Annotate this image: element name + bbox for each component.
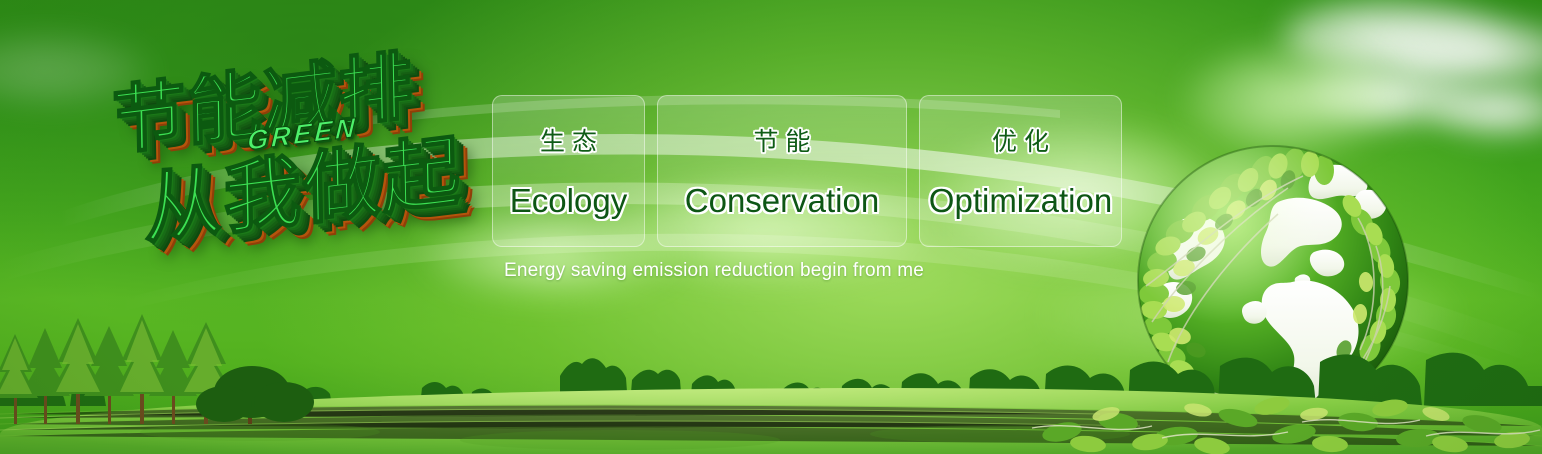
- banner-tagline: Energy saving emission reduction begin f…: [504, 260, 924, 282]
- cloud-icon: [1390, 14, 1542, 84]
- logo-line-1: 节能减排: [111, 25, 415, 170]
- cloud-icon: [1300, 60, 1490, 126]
- feature-card-title-cn: 优化: [992, 122, 1056, 158]
- feature-card-title-cn: 节能: [753, 122, 817, 158]
- feature-card-title-cn: 生态: [540, 122, 604, 158]
- feature-card-title-en: Conservation: [685, 182, 879, 220]
- eco-banner: 节能减排 从我做起 GREEN 生态 Ecology 节能 Conservati…: [0, 0, 1542, 454]
- banner-logo: 节能减排 从我做起 GREEN: [95, 36, 495, 266]
- cloud-icon: [1430, 78, 1542, 136]
- feature-card-title-en: Optimization: [929, 182, 1112, 220]
- cloud-icon: [0, 28, 160, 106]
- logo-line-2: 从我做起: [143, 108, 463, 260]
- grass-field: [0, 388, 1542, 454]
- feature-card-conservation[interactable]: 节能 Conservation: [657, 95, 907, 247]
- logo-overlay-green: GREEN: [247, 112, 359, 157]
- feature-card-title-en: Ecology: [510, 182, 627, 220]
- feature-card-ecology[interactable]: 生态 Ecology: [492, 95, 645, 247]
- feature-card-optimization[interactable]: 优化 Optimization: [919, 95, 1122, 247]
- leafy-globe-icon: [1128, 136, 1418, 426]
- feature-card-list: 生态 Ecology 节能 Conservation 优化 Optimizati…: [492, 95, 1122, 247]
- cloud-icon: [1280, 0, 1520, 78]
